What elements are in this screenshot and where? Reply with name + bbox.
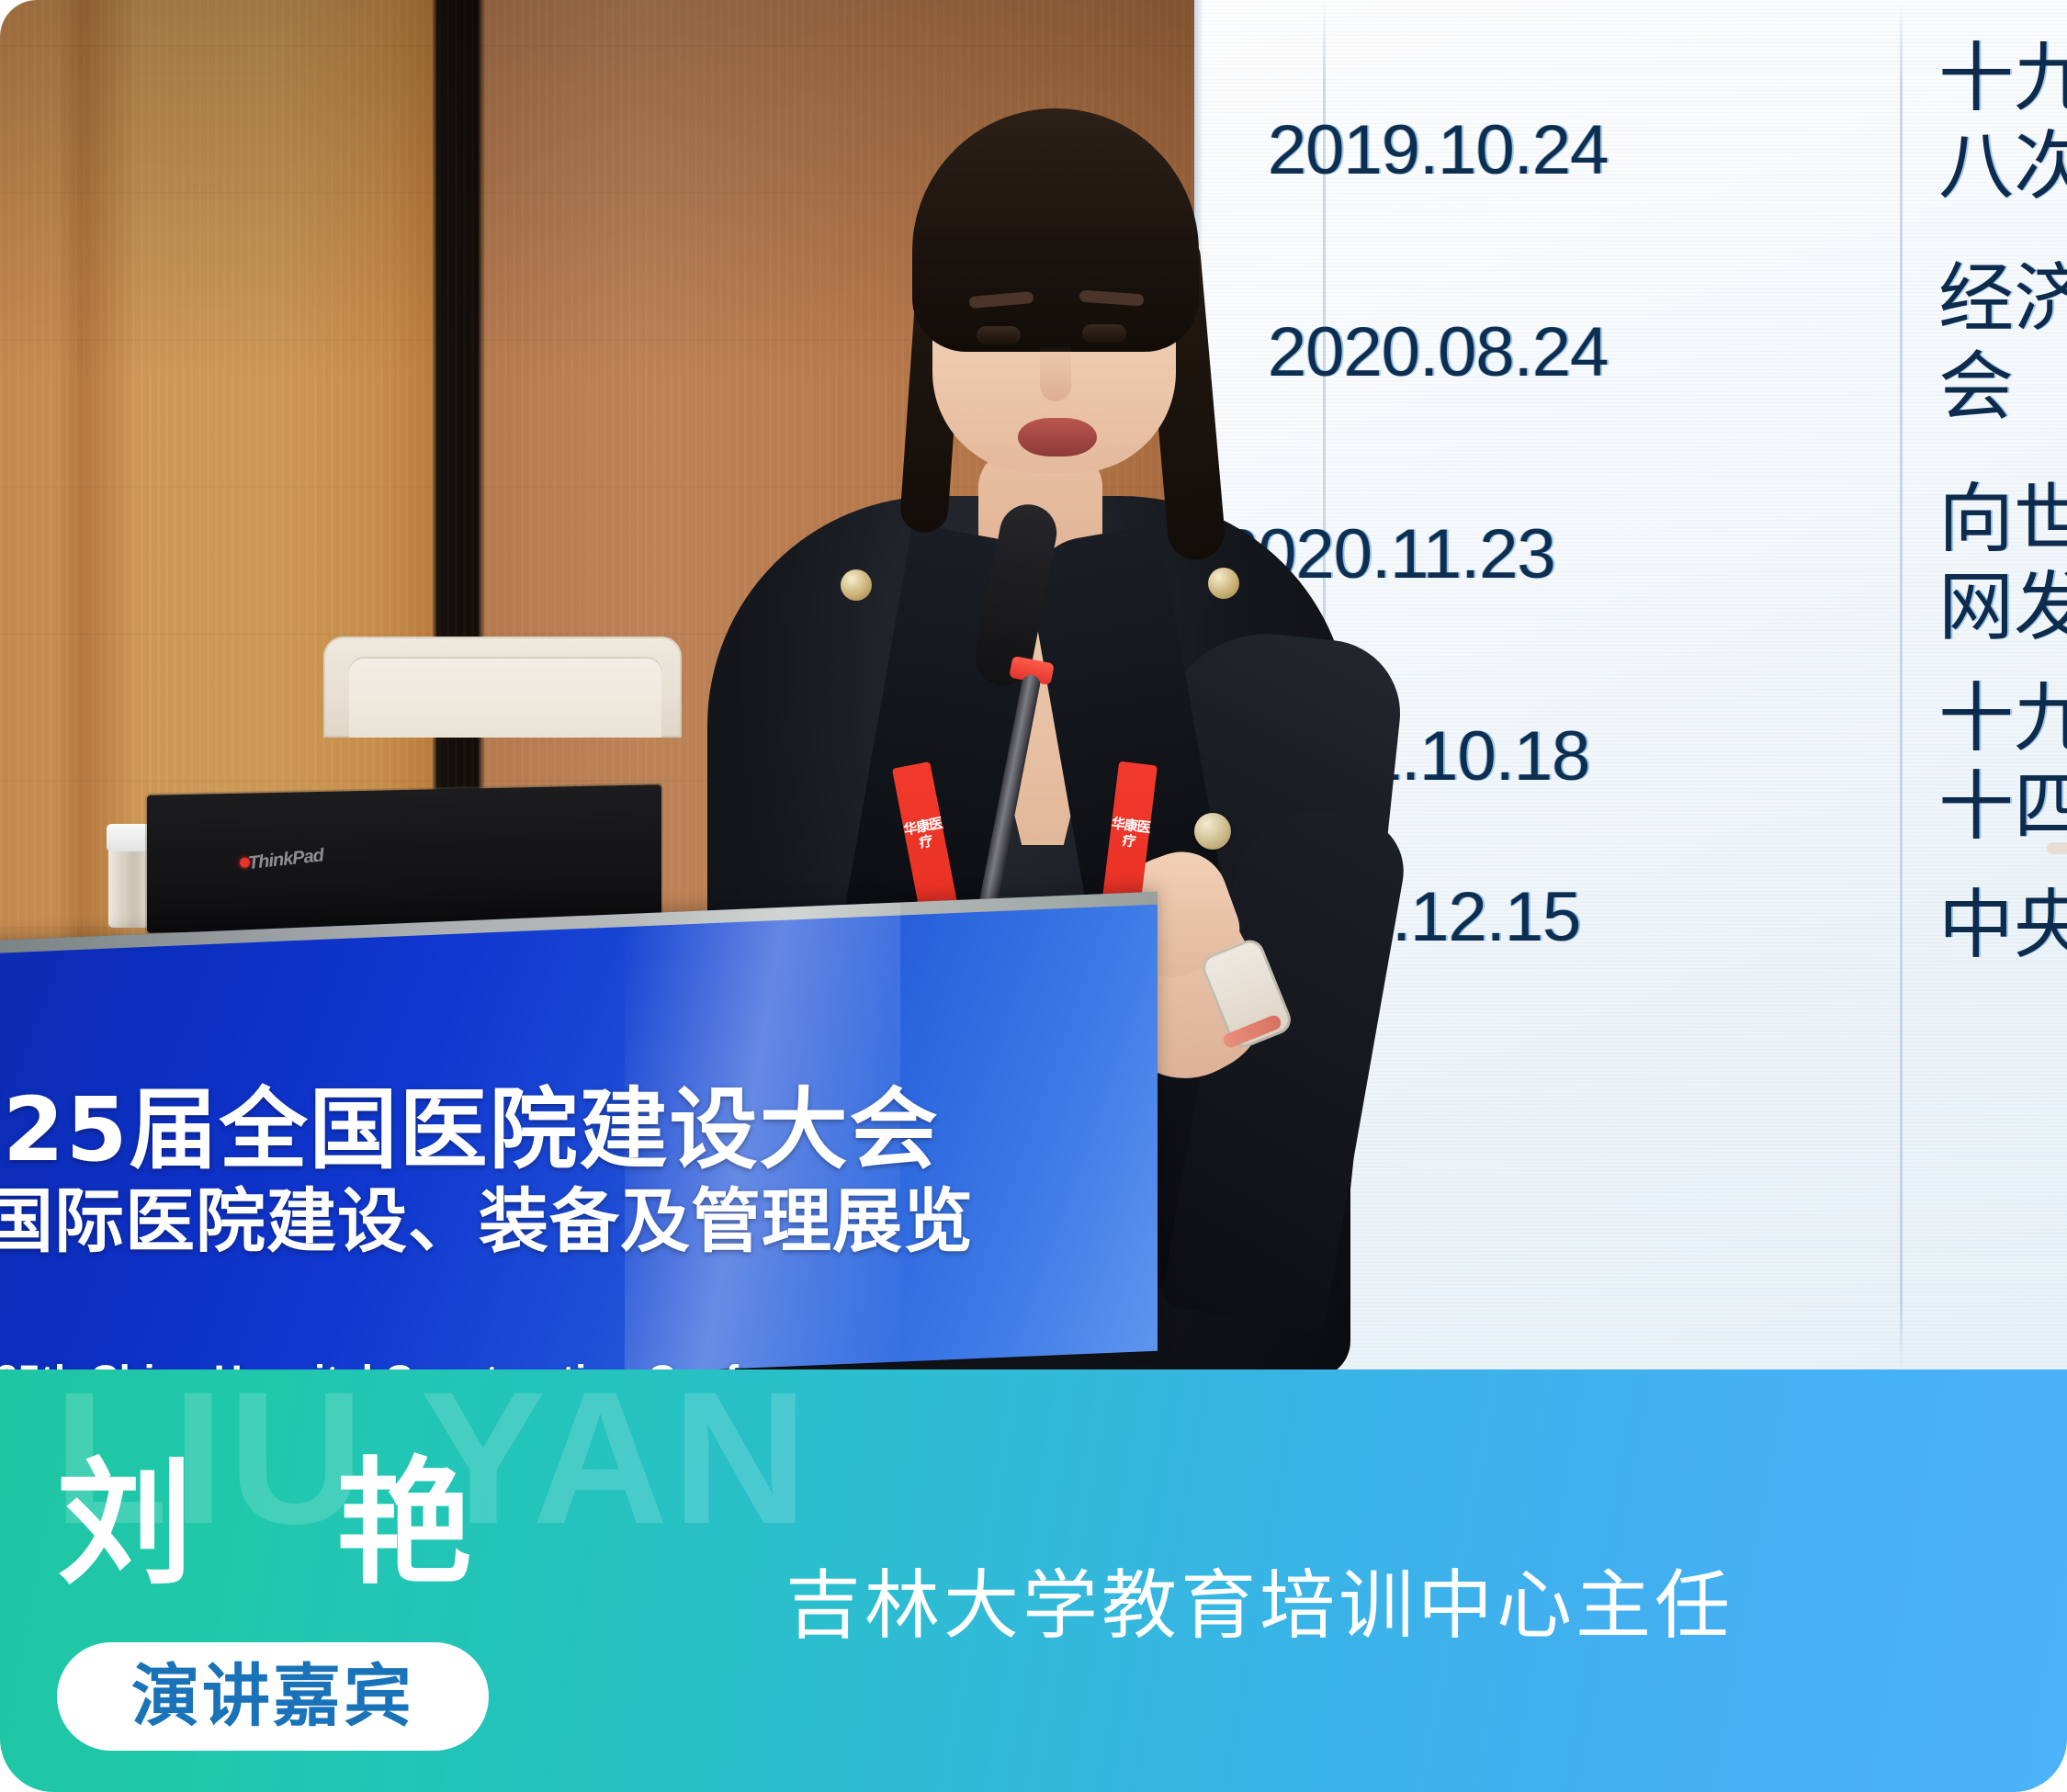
role-badge-label: 演讲嘉宾: [131, 1660, 414, 1733]
eye-right: [1082, 324, 1126, 343]
eye-left: [977, 326, 1021, 344]
speaker-name: 刘 艳: [57, 1454, 520, 1594]
speaker-hair: [912, 108, 1199, 352]
jacket-button-right: [1208, 568, 1239, 599]
nose: [1040, 344, 1071, 401]
podium-banner-text: 第25届全国医院建设大会 暨国际医院建设、装备及管理展览会 The 25th C…: [0, 1082, 997, 1369]
role-badge: 演讲嘉宾: [57, 1642, 489, 1751]
jacket-button-left: [841, 569, 872, 601]
lanyard-sponsor-cn: 华康医疗: [902, 816, 946, 853]
laptop-lid: ThinkPad: [147, 784, 661, 933]
teeth: [2047, 842, 2067, 854]
speaker-card: 2019.10.24 2020.08.24 2020.11.23 2021.10…: [0, 0, 2067, 1792]
speaker-info-banner: LIU YAN 刘 艳 演讲嘉宾 吉林大学教育培训中心主任: [0, 1369, 2067, 1792]
mouth: [1018, 418, 1097, 456]
podium-panel: 第25届全国医院建设大会 暨国际医院建设、装备及管理展览会 The 25th C…: [0, 892, 1158, 1369]
podium-title-en-1: The 25th China Hospital Construction Con…: [0, 1356, 997, 1369]
badge-pin: [1194, 813, 1231, 850]
laptop-brand-label: ThinkPad: [247, 845, 324, 874]
podium-title-cn-2: 暨国际医院建设、装备及管理展览会: [0, 1181, 997, 1343]
speaker-title: 吉林大学教育培训中心主任: [785, 1564, 1734, 1649]
conference-photo: 2019.10.24 2020.08.24 2020.11.23 2021.10…: [0, 0, 2067, 1369]
lanyard-sponsor-cn: 华康医疗: [1109, 816, 1151, 851]
podium-title-cn-1: 第25届全国医院建设大会: [0, 1082, 997, 1178]
